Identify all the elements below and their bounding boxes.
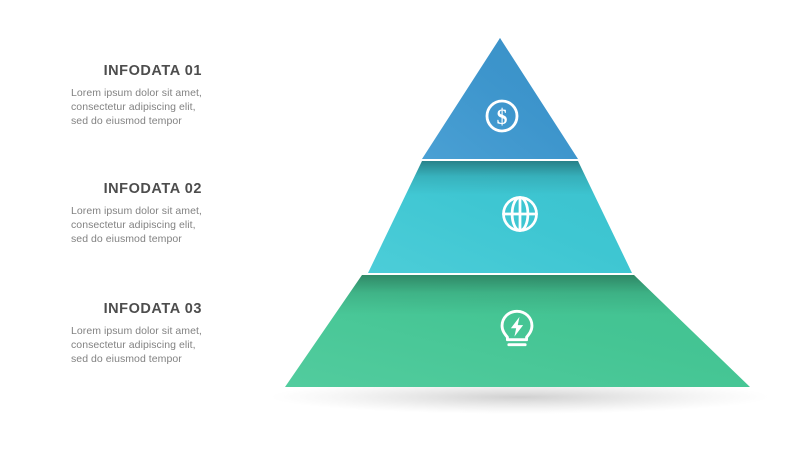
lightbulb-bolt-icon bbox=[494, 306, 540, 352]
info-block-1-heading: INFODATA 01 bbox=[42, 62, 202, 80]
pyramid-ground-shadow bbox=[270, 380, 770, 414]
info-block-1: INFODATA 01 Lorem ipsum dolor sit amet, … bbox=[42, 62, 202, 129]
info-block-3-body: Lorem ipsum dolor sit amet, consectetur … bbox=[71, 324, 202, 367]
pyramid-level-1 bbox=[422, 38, 578, 196]
info-block-2-heading: INFODATA 02 bbox=[42, 180, 202, 198]
globe-icon bbox=[498, 192, 542, 236]
info-block-3: INFODATA 03 Lorem ipsum dolor sit amet, … bbox=[42, 300, 202, 367]
info-block-1-body: Lorem ipsum dolor sit amet, consectetur … bbox=[71, 86, 202, 129]
svg-text:$: $ bbox=[497, 105, 508, 129]
dollar-circle-icon: $ bbox=[482, 96, 522, 136]
pyramid-level-3 bbox=[280, 275, 760, 387]
infographic-canvas: $ INFODATA 01 Lorem ipsum dolor sit amet… bbox=[0, 0, 800, 450]
pyramid-level-2 bbox=[360, 161, 650, 273]
info-block-2: INFODATA 02 Lorem ipsum dolor sit amet, … bbox=[42, 180, 202, 247]
info-block-2-body: Lorem ipsum dolor sit amet, consectetur … bbox=[71, 204, 202, 247]
info-block-3-heading: INFODATA 03 bbox=[42, 300, 202, 318]
